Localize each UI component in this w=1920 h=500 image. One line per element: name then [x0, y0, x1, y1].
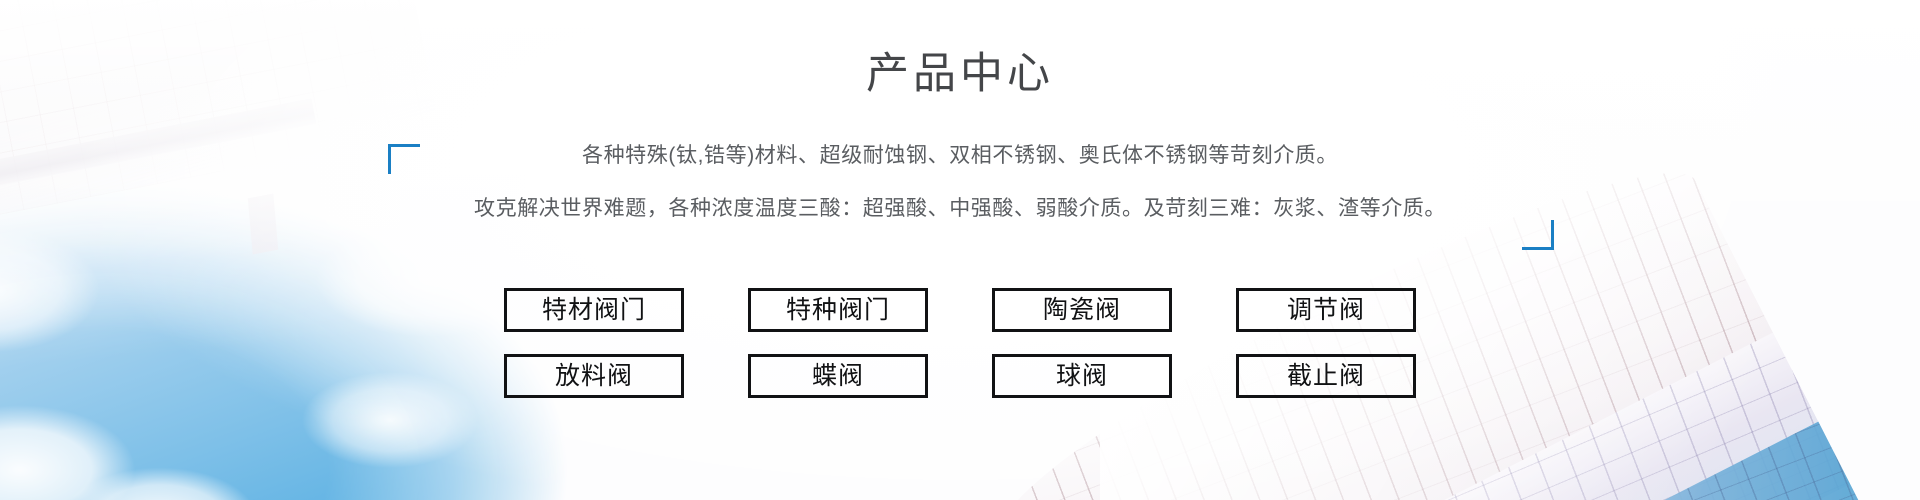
corner-bracket-top-left-icon	[388, 144, 420, 174]
category-button-1[interactable]: 特材阀门	[504, 288, 684, 332]
category-button-2[interactable]: 特种阀门	[748, 288, 928, 332]
product-category-grid: 特材阀门 特种阀门 陶瓷阀 调节阀 放料阀 蝶阀 球阀 截止阀	[480, 288, 1440, 398]
category-button-8[interactable]: 截止阀	[1236, 354, 1416, 398]
page-title: 产品中心	[0, 48, 1920, 102]
category-button-4[interactable]: 调节阀	[1236, 288, 1416, 332]
description-line-2: 攻克解决世界难题，各种浓度温度三酸：超强酸、中强酸、弱酸介质。及苛刻三难：灰浆、…	[0, 193, 1920, 226]
description-line-1: 各种特殊(钛,锆等)材料、超级耐蚀钢、双相不锈钢、奥氏体不锈钢等苛刻介质。	[0, 140, 1920, 173]
category-button-7[interactable]: 球阀	[992, 354, 1172, 398]
description-block: 各种特殊(钛,锆等)材料、超级耐蚀钢、双相不锈钢、奥氏体不锈钢等苛刻介质。 攻克…	[0, 140, 1920, 225]
category-button-3[interactable]: 陶瓷阀	[992, 288, 1172, 332]
category-button-6[interactable]: 蝶阀	[748, 354, 928, 398]
hero-content: 产品中心 各种特殊(钛,锆等)材料、超级耐蚀钢、双相不锈钢、奥氏体不锈钢等苛刻介…	[0, 0, 1920, 500]
category-button-5[interactable]: 放料阀	[504, 354, 684, 398]
corner-bracket-bottom-right-icon	[1522, 220, 1554, 250]
